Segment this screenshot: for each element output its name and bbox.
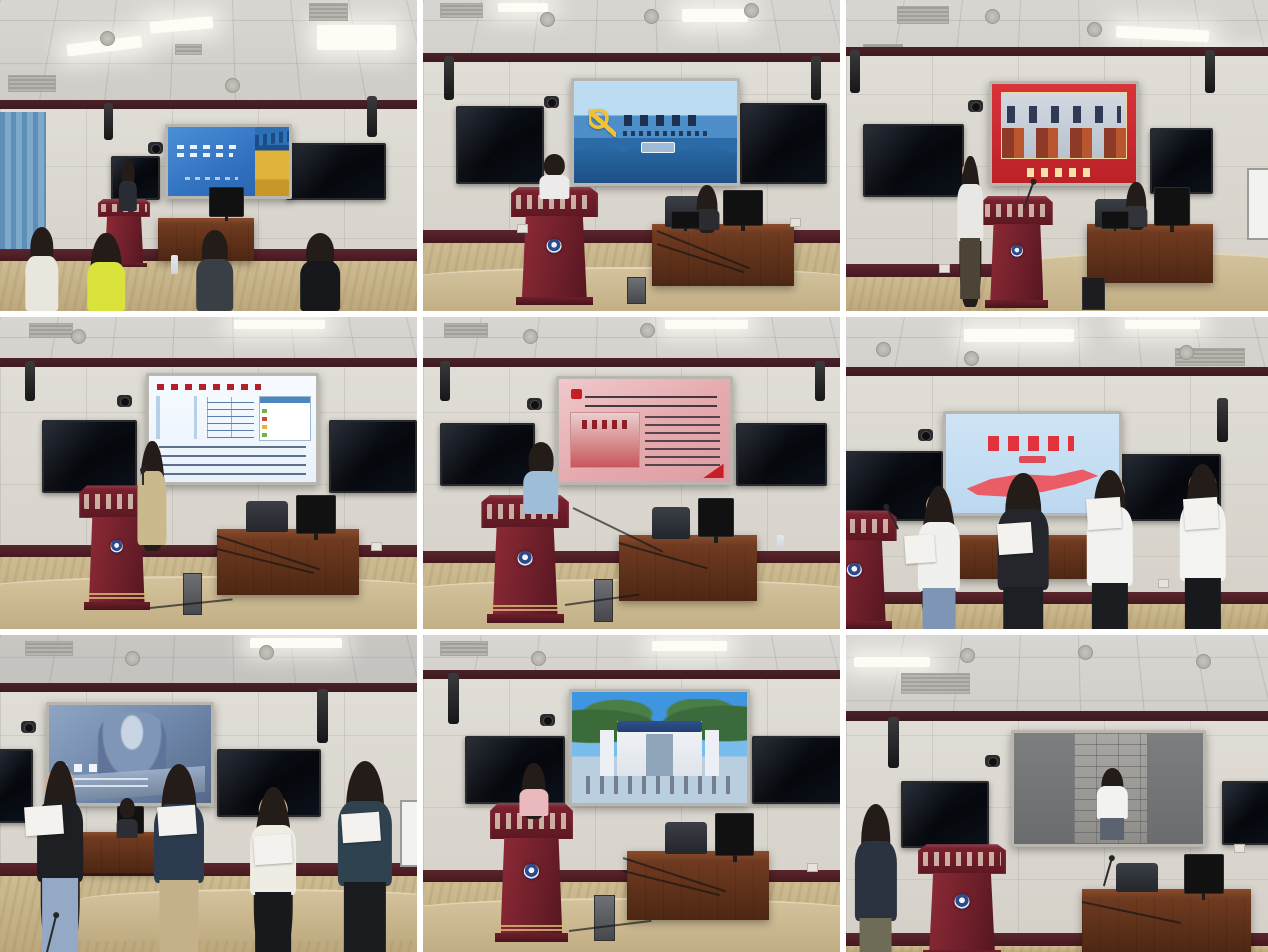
hair xyxy=(544,154,564,177)
audience-member xyxy=(196,233,234,311)
wall-speaker-icon xyxy=(888,717,899,768)
party-emblem-icon xyxy=(589,109,617,137)
ceiling-vent xyxy=(8,75,56,93)
university-emblem-icon xyxy=(110,540,123,553)
ceiling-light xyxy=(854,657,930,667)
ceiling-speaker-icon xyxy=(125,651,140,666)
slide-title-calligraphy xyxy=(988,436,1075,451)
slide-book-image xyxy=(570,412,640,468)
wall-speaker-icon xyxy=(444,56,454,100)
ceiling-light xyxy=(682,9,749,21)
ceiling-vent xyxy=(309,3,349,21)
slide-archway-pillar-right xyxy=(705,730,719,777)
ceiling-light xyxy=(1125,320,1201,329)
legs xyxy=(255,892,291,952)
side-display xyxy=(752,736,840,803)
wall-speaker-icon xyxy=(104,103,113,140)
console-monitor xyxy=(1184,854,1224,894)
speaker-at-podium xyxy=(138,445,167,545)
collage-photo-8 xyxy=(423,635,840,952)
wall-speaker-icon xyxy=(25,361,35,402)
recitation-paper xyxy=(1085,497,1121,530)
legs xyxy=(961,238,981,298)
power-outlet xyxy=(807,863,818,872)
console-desk xyxy=(652,224,794,286)
power-outlet xyxy=(939,264,950,273)
slide-caption xyxy=(1027,168,1093,177)
recitation-paper xyxy=(158,805,197,836)
lecture-hall-scene xyxy=(0,635,417,952)
console-monitor xyxy=(296,495,336,534)
pc-tower xyxy=(594,895,615,941)
whiteboard xyxy=(1247,168,1268,240)
slide-subtitle xyxy=(185,177,238,180)
podium-trim xyxy=(87,597,147,599)
slide-subtitle xyxy=(623,131,708,136)
podium xyxy=(490,803,573,942)
ceiling-speaker-icon xyxy=(1078,645,1093,660)
camera-icon xyxy=(540,714,555,726)
hair xyxy=(120,798,135,818)
side-display xyxy=(901,781,989,848)
slide-text-column xyxy=(645,412,720,466)
ceiling-vent xyxy=(175,44,202,55)
projection-screen xyxy=(989,81,1138,187)
torso xyxy=(25,256,58,311)
slide-title-line1 xyxy=(177,145,240,149)
console-desk xyxy=(619,535,757,601)
torso xyxy=(88,262,126,311)
university-emblem-icon xyxy=(955,894,970,909)
camera-icon xyxy=(21,721,36,733)
ceiling-vent xyxy=(440,3,484,17)
university-emblem-icon xyxy=(518,551,533,566)
slide-content xyxy=(992,84,1135,184)
podium-base xyxy=(84,602,150,611)
camera-icon xyxy=(544,96,559,108)
camera-icon xyxy=(148,142,163,154)
side-display xyxy=(1150,128,1213,194)
podium-trim xyxy=(498,925,565,927)
reciter-2 xyxy=(154,771,204,952)
collage-photo-3 xyxy=(846,0,1268,311)
slide-content xyxy=(574,81,737,184)
camera-icon xyxy=(985,755,1000,767)
podium xyxy=(918,844,1007,952)
podium-body xyxy=(990,224,1043,301)
torso xyxy=(119,181,137,212)
water-bottle xyxy=(777,535,784,547)
camera-icon xyxy=(918,429,933,441)
pc-tower xyxy=(627,277,646,304)
console-operator xyxy=(117,800,138,838)
wall-speaker-icon xyxy=(317,689,328,743)
torso xyxy=(540,175,569,199)
collage-photo-9 xyxy=(846,635,1268,952)
slide-content xyxy=(149,376,316,482)
audience-member xyxy=(88,236,126,311)
ceiling-light xyxy=(498,3,548,12)
legs xyxy=(1092,583,1128,629)
wall-speaker-icon xyxy=(367,96,377,136)
side-display xyxy=(456,106,543,185)
desk-front xyxy=(652,234,794,286)
slide-title-line2 xyxy=(177,153,233,157)
legs xyxy=(859,918,892,952)
operator-laptop xyxy=(1101,211,1128,229)
slide-heading xyxy=(585,389,717,408)
ceiling-speaker-icon xyxy=(259,645,274,660)
camera-icon xyxy=(527,398,542,410)
ceiling-light xyxy=(652,641,727,651)
speaker-at-podium xyxy=(519,765,548,816)
ceiling-light xyxy=(964,329,1074,341)
podium-inscription xyxy=(846,519,892,533)
photo-collage-grid xyxy=(0,0,1268,952)
side-display xyxy=(329,420,416,493)
side-display xyxy=(736,423,828,486)
slide-classroom-photo xyxy=(1001,92,1127,160)
legs xyxy=(1003,587,1042,629)
collage-photo-4 xyxy=(0,317,417,629)
university-emblem-icon xyxy=(547,239,562,254)
podium-base xyxy=(495,933,568,943)
wall-speaker-icon xyxy=(1217,398,1228,442)
collage-photo-6 xyxy=(846,317,1268,629)
console-desk xyxy=(1087,224,1214,283)
side-display xyxy=(740,103,827,185)
slide-seal xyxy=(1019,456,1047,463)
legs xyxy=(344,882,386,952)
whiteboard xyxy=(400,800,417,867)
podium xyxy=(846,510,897,629)
ceiling-vent xyxy=(444,323,488,337)
speaker-at-podium xyxy=(540,156,569,200)
recitation-paper xyxy=(904,534,935,564)
slide-corner-accent xyxy=(703,464,724,478)
console-monitor xyxy=(209,187,244,217)
lecture-hall-scene xyxy=(846,0,1268,311)
slide-body-text xyxy=(159,446,306,475)
podium-base xyxy=(516,297,593,305)
console-monitor xyxy=(715,813,755,856)
podium-base xyxy=(985,300,1048,308)
projection-screen xyxy=(569,689,750,806)
ceiling-vent xyxy=(25,641,73,656)
podium-body xyxy=(493,527,558,615)
ceiling-speaker-icon xyxy=(640,323,655,338)
recitation-paper xyxy=(997,522,1033,555)
console-chair xyxy=(665,822,707,854)
ceiling-vent xyxy=(897,6,950,24)
reciter-1 xyxy=(38,768,84,952)
wall-speaker-icon xyxy=(1205,50,1215,94)
power-outlet xyxy=(790,218,801,227)
speaker-at-podium xyxy=(958,162,983,299)
ceiling-speaker-icon xyxy=(960,648,975,663)
wall-speaker-icon xyxy=(448,673,459,724)
slide-archway-pillar-left xyxy=(600,730,614,777)
power-outlet xyxy=(1234,844,1245,853)
podium-body xyxy=(846,540,886,622)
legs xyxy=(1100,818,1124,840)
speaker-at-podium xyxy=(119,162,137,212)
torso xyxy=(519,789,548,815)
podium-base xyxy=(846,621,892,629)
console-monitor xyxy=(1154,187,1190,226)
lecture-hall-scene xyxy=(846,635,1268,952)
recitation-paper xyxy=(24,805,63,836)
lecture-hall-scene xyxy=(0,317,417,629)
slide-presenter-box xyxy=(641,142,676,152)
power-outlet xyxy=(1158,579,1169,588)
ceiling-light xyxy=(234,320,326,329)
camera-icon xyxy=(117,395,132,407)
reciter-4 xyxy=(338,768,392,952)
slide-content xyxy=(559,379,730,482)
speaker-at-podium xyxy=(523,445,558,514)
podium-base xyxy=(487,614,564,623)
recitation-paper xyxy=(341,811,380,842)
side-display xyxy=(863,124,964,196)
ceiling-vent xyxy=(440,641,488,656)
reciter-4 xyxy=(1179,470,1225,629)
collage-photo-2 xyxy=(423,0,840,311)
console-monitor xyxy=(698,498,733,537)
podium xyxy=(481,495,569,623)
collage-photo-5 xyxy=(423,317,840,629)
collage-photo-7 xyxy=(0,635,417,952)
podium-body xyxy=(522,216,587,298)
pc-tower xyxy=(183,573,202,616)
podium-inscription xyxy=(985,204,1048,217)
slide-org-diagram xyxy=(207,397,254,437)
side-display xyxy=(465,736,565,803)
torso xyxy=(117,819,138,838)
standing-speaker xyxy=(854,809,896,952)
ceiling-speaker-icon xyxy=(1087,22,1102,37)
podium-trim xyxy=(498,929,565,931)
reciter-3 xyxy=(250,794,296,952)
side-display xyxy=(1222,781,1268,845)
podium-inscription xyxy=(923,852,1001,866)
side-display xyxy=(286,143,386,200)
podium-body xyxy=(501,838,563,934)
lecture-hall-scene xyxy=(423,635,840,952)
slide-memorial-archway xyxy=(617,721,701,776)
podium-trim xyxy=(490,609,560,611)
lecture-hall-scene xyxy=(423,317,840,629)
projection-screen xyxy=(556,376,733,485)
projection-screen xyxy=(146,373,319,485)
slide-content xyxy=(168,127,289,195)
torso xyxy=(300,261,340,311)
podium-trim xyxy=(87,593,147,595)
side-display xyxy=(440,423,536,486)
audience-member xyxy=(300,236,340,311)
console-chair xyxy=(652,507,690,538)
projection-screen xyxy=(571,78,740,187)
torso xyxy=(523,471,558,514)
slide-title xyxy=(624,115,699,126)
operator-laptop xyxy=(671,211,700,229)
torso xyxy=(196,259,234,311)
ceiling-light xyxy=(317,25,396,50)
ceiling-speaker-icon xyxy=(225,78,240,93)
slide-sidebar-left xyxy=(156,396,160,438)
lecture-hall-scene xyxy=(423,0,840,311)
handheld-microphone-icon xyxy=(142,470,144,486)
podium-body xyxy=(89,517,145,603)
console-desk xyxy=(217,529,359,595)
console-chair xyxy=(1116,863,1158,892)
torso xyxy=(958,184,983,241)
ceiling-vent xyxy=(901,673,971,694)
legs xyxy=(922,588,955,629)
lecture-hall-scene xyxy=(846,317,1268,629)
slide-visitors xyxy=(586,776,733,794)
power-outlet xyxy=(517,224,528,233)
console-chair xyxy=(246,501,288,532)
collage-photo-1 xyxy=(0,0,417,311)
wall-speaker-icon xyxy=(815,361,825,402)
console-desk xyxy=(627,851,769,921)
slide-content xyxy=(572,692,747,803)
slide-sidebar-mid xyxy=(194,396,197,438)
slide-data-table xyxy=(259,396,311,440)
water-bottle xyxy=(171,255,179,274)
slide-mountain-near xyxy=(574,130,737,183)
power-outlet xyxy=(371,542,382,551)
slide-student-figure xyxy=(1097,771,1127,840)
side-display xyxy=(42,420,138,493)
slide-badge-icon xyxy=(571,389,581,399)
lecture-hall-scene xyxy=(0,0,417,311)
legs xyxy=(160,880,199,952)
audience-member xyxy=(25,230,58,311)
legs xyxy=(1184,578,1220,629)
podium xyxy=(981,196,1053,308)
wall-speaker-icon xyxy=(850,50,860,94)
desk-front xyxy=(619,546,757,601)
pc-tower xyxy=(1082,277,1105,310)
camera-icon xyxy=(968,100,983,112)
wall-speaker-icon xyxy=(440,361,450,402)
ceiling-light xyxy=(665,320,748,329)
recitation-paper xyxy=(253,833,292,864)
console-monitor xyxy=(723,190,763,226)
recitation-paper xyxy=(1183,497,1219,530)
slide-content xyxy=(1014,733,1204,844)
slide-temple-photo xyxy=(255,127,289,195)
podium-body xyxy=(929,873,995,952)
torso xyxy=(1097,786,1127,819)
desk-front xyxy=(1087,233,1214,283)
torso xyxy=(854,841,896,921)
wall-speaker-icon xyxy=(811,56,821,100)
slide-heading xyxy=(157,384,260,390)
ceiling-vent xyxy=(29,323,73,337)
projection-screen xyxy=(1011,730,1207,847)
ceiling-speaker-icon xyxy=(876,342,891,357)
podium-trim xyxy=(490,605,560,607)
podium xyxy=(511,187,599,305)
